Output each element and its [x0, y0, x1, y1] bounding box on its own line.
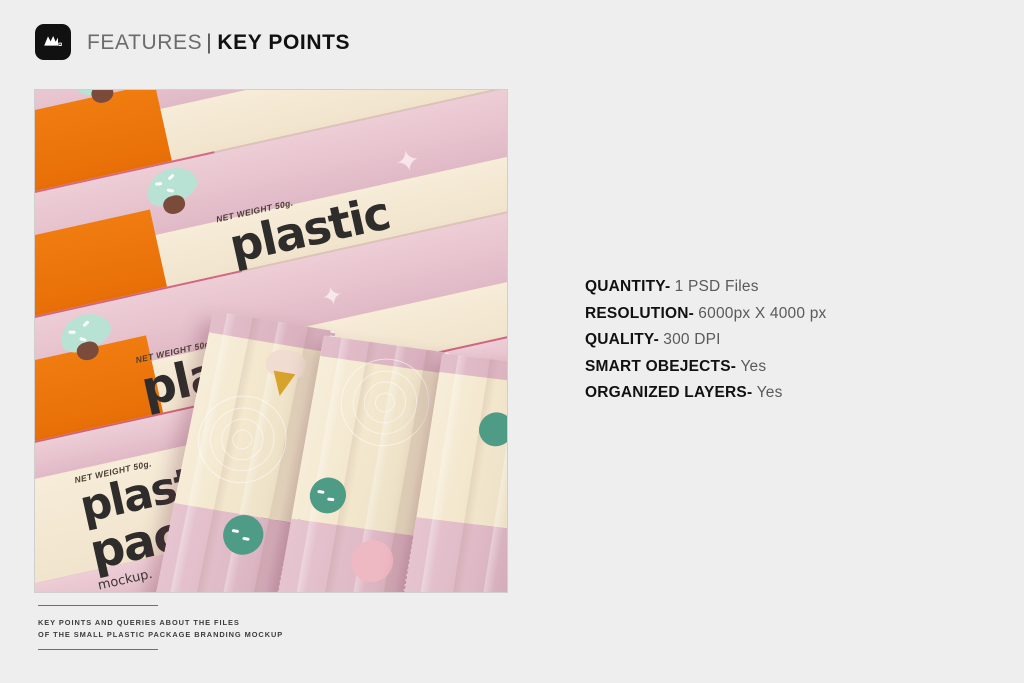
footer-caption: KEY POINTS AND QUERIES ABOUT THE FILES O…	[38, 605, 368, 650]
spec-value: Yes	[740, 358, 766, 375]
page-title: FEATURES|KEY POINTS	[87, 32, 350, 53]
spec-row-resolution: RESOLUTION- 6000px X 4000 px	[585, 301, 985, 328]
page-title-key-points: KEY POINTS	[217, 31, 350, 54]
footer-rule-top	[38, 605, 158, 606]
mockup-scene: NET WEIGHT 50g. plastic ✦ NET WEIGHT 50g…	[35, 90, 507, 592]
page-header: FEATURES|KEY POINTS	[35, 24, 350, 60]
spec-label: RESOLUTION-	[585, 305, 694, 322]
page-title-separator: |	[206, 31, 212, 54]
footer-caption-line-1: KEY POINTS AND QUERIES ABOUT THE FILES	[38, 618, 240, 627]
page-title-features: FEATURES	[87, 31, 202, 54]
logo-mark-icon	[35, 24, 71, 60]
spec-value: 300 DPI	[663, 331, 720, 348]
spec-row-smart-objects: SMART OBEJECTS- Yes	[585, 354, 985, 381]
spec-label: QUANTITY-	[585, 278, 670, 295]
spec-label: QUALITY-	[585, 331, 659, 348]
spec-value: 1 PSD Files	[675, 278, 759, 295]
footer-caption-text: KEY POINTS AND QUERIES ABOUT THE FILES O…	[38, 617, 368, 640]
footer-rule-bottom	[38, 649, 158, 650]
product-mockup-image: NET WEIGHT 50g. plastic ✦ NET WEIGHT 50g…	[35, 90, 507, 592]
spec-label: ORGANIZED LAYERS-	[585, 384, 752, 401]
spec-row-quality: QUALITY- 300 DPI	[585, 327, 985, 354]
spec-label: SMART OBEJECTS-	[585, 358, 736, 375]
spec-row-quantity: QUANTITY- 1 PSD Files	[585, 274, 985, 301]
spec-value: 6000px X 4000 px	[698, 305, 826, 322]
spec-row-organized-layers: ORGANIZED LAYERS- Yes	[585, 380, 985, 407]
footer-caption-line-2: OF THE SMALL PLASTIC PACKAGE BRANDING MO…	[38, 630, 283, 639]
key-points-spec-list: QUANTITY- 1 PSD Files RESOLUTION- 6000px…	[585, 274, 985, 407]
spec-value: Yes	[757, 384, 783, 401]
